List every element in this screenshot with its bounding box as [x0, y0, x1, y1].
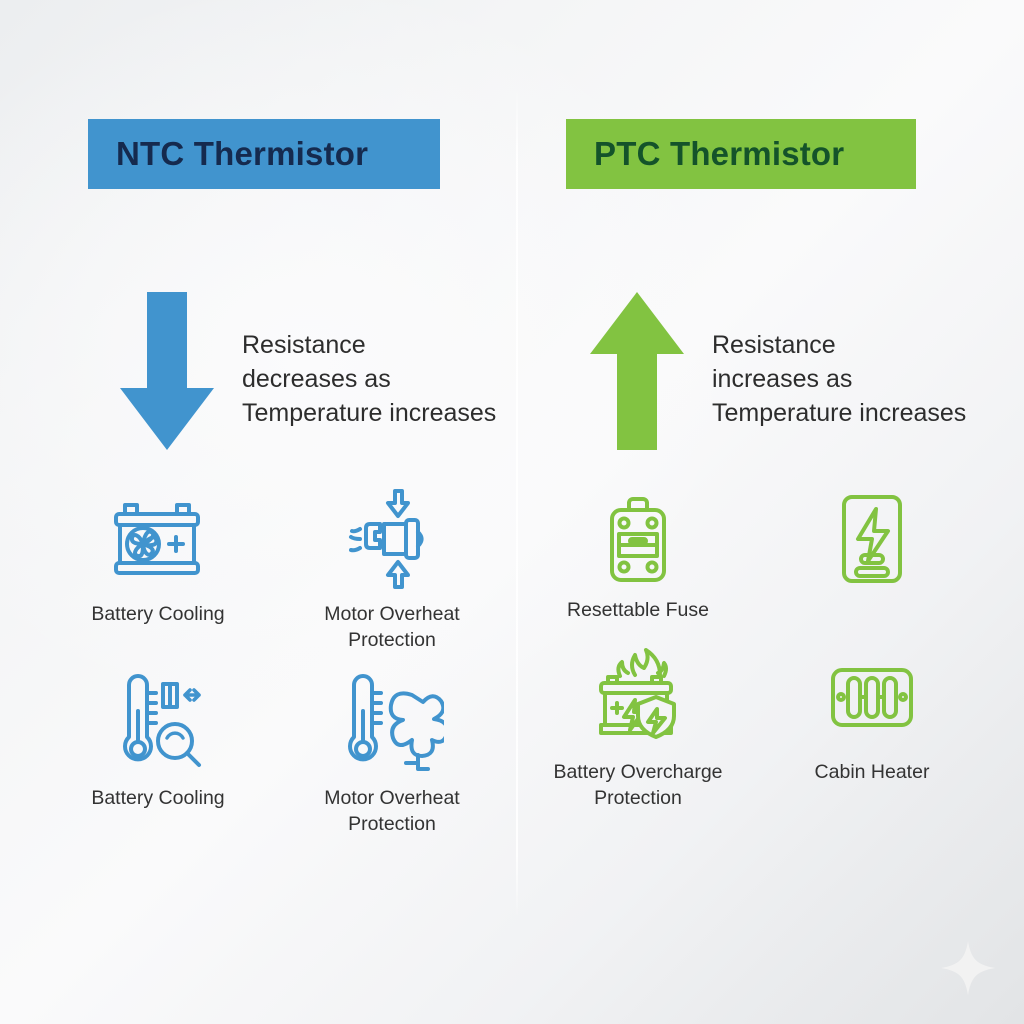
ntc-header-banner: NTC Thermistor: [88, 119, 440, 189]
column-divider: [516, 88, 518, 918]
ptc-item-heater-panel: Cabin Heater: [759, 487, 985, 627]
up-arrow-icon: [588, 292, 686, 450]
ntc-item-battery-cooling-sensor: Battery Cooling: [45, 671, 271, 837]
caption: Resettable Fuse: [567, 597, 709, 623]
ntc-statement-row: Resistance decreases as Temperature incr…: [118, 292, 496, 450]
ntc-statement-text: Resistance decreases as Temperature incr…: [242, 328, 496, 430]
heater-panel-bolt-icon: [820, 487, 924, 591]
heater-grid-icon: [820, 645, 924, 749]
ptc-application-grid: Resettable Fuse Cabin Heater: [525, 487, 985, 811]
thermometer-fan-icon: [340, 671, 444, 775]
ptc-item-battery-overcharge: Battery Overcharge Protection: [525, 645, 751, 811]
ntc-item-motor-overheat: Motor Overheat Protection: [279, 487, 505, 653]
resettable-fuse-icon: [586, 487, 690, 591]
caption: Cabin Heater: [815, 759, 930, 785]
ntc-application-grid: Battery Cooling Motor Overheat Protectio…: [45, 487, 505, 837]
ntc-item-battery-cooling: Battery Cooling: [45, 487, 271, 653]
down-arrow-icon: [118, 292, 216, 450]
thermometer-magnifier-icon: [106, 671, 210, 775]
thermistor-comparison-infographic: NTC Thermistor PTC Thermistor Resistance…: [0, 0, 1024, 1024]
battery-flame-shield-icon: [586, 645, 690, 749]
caption: Battery Cooling: [91, 785, 224, 811]
ptc-statement-text: Resistance increases as Temperature incr…: [712, 328, 966, 430]
ptc-header-banner: PTC Thermistor: [566, 119, 916, 189]
ptc-title: PTC Thermistor: [594, 135, 844, 173]
ptc-item-resettable-fuse: Resettable Fuse: [525, 487, 751, 627]
motor-compression-icon: [340, 487, 444, 591]
ntc-title: NTC Thermistor: [116, 135, 368, 173]
ptc-item-cabin-heater: Cabin Heater: [759, 645, 985, 811]
caption: Battery Overcharge Protection: [553, 759, 722, 811]
ntc-item-motor-overheat-fan: Motor Overheat Protection: [279, 671, 505, 837]
battery-fan-icon: [106, 487, 210, 591]
sparkle-icon: [939, 939, 997, 997]
caption: Motor Overheat Protection: [324, 785, 459, 837]
caption: Motor Overheat Protection: [324, 601, 459, 653]
ptc-statement-row: Resistance increases as Temperature incr…: [588, 292, 966, 450]
caption: Battery Cooling: [91, 601, 224, 627]
